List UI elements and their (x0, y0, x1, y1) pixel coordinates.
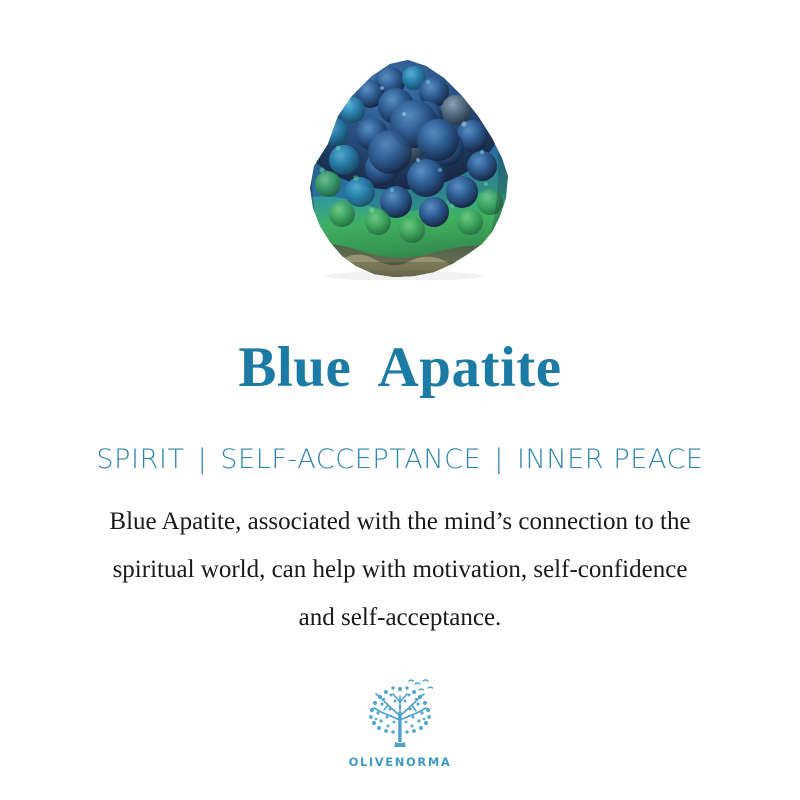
brand-logo: OLIVENORMA (0, 676, 800, 769)
description-line-2: spiritual world, can help with motivatio… (30, 546, 770, 594)
keyword-separator-1: | (185, 442, 221, 478)
stone-shadow (326, 271, 482, 280)
product-title: Blue Apatite (0, 336, 800, 400)
keyword-inner-peace: INNER PEACE (517, 442, 704, 478)
description-line-3: and self-acceptance. (30, 594, 770, 642)
stone-illustration (286, 52, 518, 280)
tree-of-life-icon (357, 676, 443, 752)
product-info-card: Blue Apatite SPIRIT|SELF-ACCEPTANCE|INNE… (0, 0, 800, 800)
keyword-self-acceptance: SELF-ACCEPTANCE (220, 442, 481, 478)
keyword-list: SPIRIT|SELF-ACCEPTANCE|INNER PEACE (0, 442, 800, 478)
brand-name: OLIVENORMA (349, 755, 452, 769)
keyword-spirit: SPIRIT (96, 442, 184, 478)
description-line-1: Blue Apatite, associated with the mind’s… (30, 498, 770, 546)
keyword-separator-2: | (481, 442, 517, 478)
product-description: Blue Apatite, associated with the mind’s… (30, 498, 770, 642)
blue-apatite-stone-image (286, 52, 518, 280)
stone-body (286, 52, 518, 280)
